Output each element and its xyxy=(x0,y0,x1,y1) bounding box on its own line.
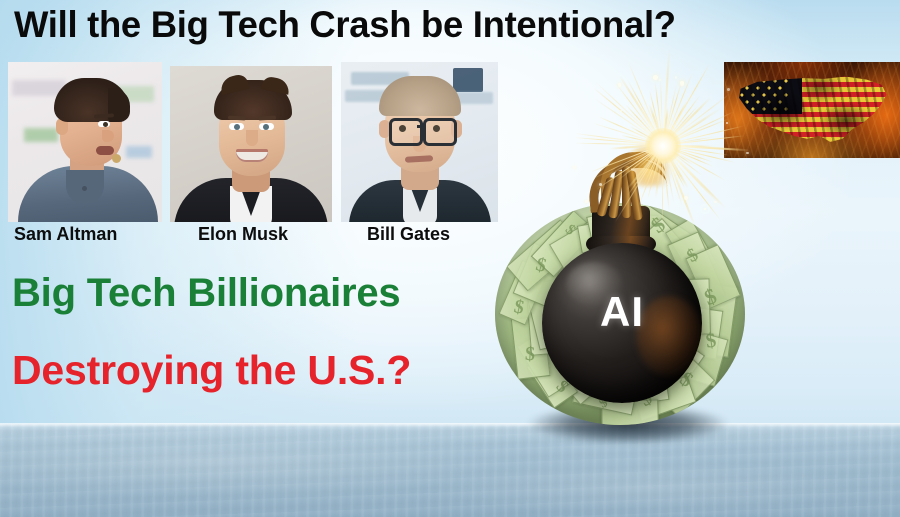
portrait-caption: Elon Musk xyxy=(198,224,288,245)
floor-horizon-line xyxy=(0,423,900,427)
headset-mic-icon xyxy=(112,154,121,163)
portrait-photo-elon-musk xyxy=(170,66,332,222)
slogan-green: Big Tech Billionaires xyxy=(12,270,400,316)
burning-us-flag-image xyxy=(724,62,900,158)
portrait-photo-bill-gates xyxy=(341,62,498,222)
poster-image: Will the Big Tech Crash be Intentional? xyxy=(0,0,900,517)
floor-texture xyxy=(0,424,900,517)
portrait-caption: Bill Gates xyxy=(367,224,450,245)
eyeglasses-icon xyxy=(423,118,457,146)
portrait-caption: Sam Altman xyxy=(14,224,117,245)
page-title: Will the Big Tech Crash be Intentional? xyxy=(14,3,875,47)
eyeglasses-icon xyxy=(389,118,423,146)
portrait-photo-sam-altman xyxy=(8,62,162,222)
slogan-red: Destroying the U.S.? xyxy=(12,347,411,394)
